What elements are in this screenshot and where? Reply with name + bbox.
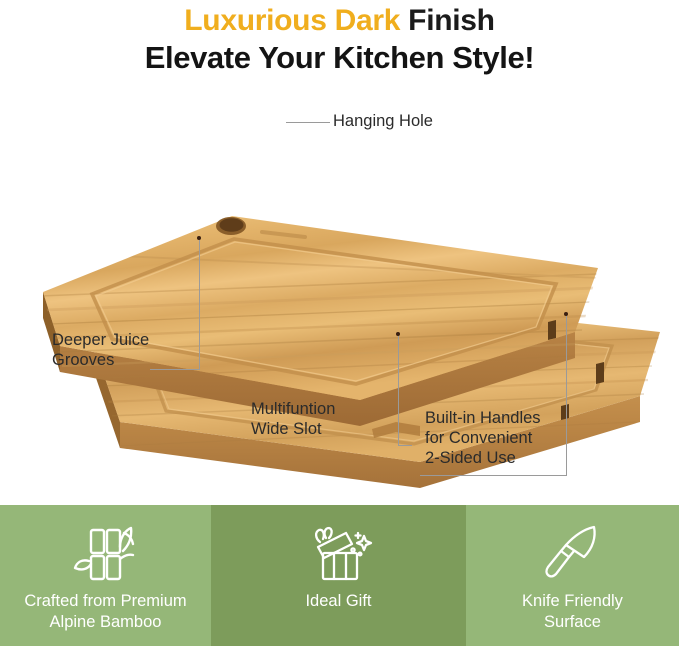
feature-panel-knife-friendly-surface[interactable]: Knife Friendly Surface	[466, 505, 679, 646]
leader-handles-vertical	[566, 316, 567, 476]
leader-wide-slot-vertical	[398, 336, 399, 446]
product-illustration	[0, 96, 679, 496]
handle-slot-upper	[596, 362, 604, 384]
leader-hanging-hole	[286, 122, 330, 123]
feature-panel-crafted-from-premium-alpine-bamboo[interactable]: Crafted from Premium Alpine Bamboo	[0, 505, 211, 646]
feature-bar: Crafted from Premium Alpine Bamboo	[0, 505, 679, 646]
gift-icon	[302, 519, 376, 589]
leader-juice-grooves-horizontal	[150, 369, 200, 370]
feature-label-ideal-gift: Ideal Gift	[299, 591, 377, 612]
callout-deeper-juice-grooves: Deeper Juice Grooves	[52, 330, 149, 370]
leader-handles-horizontal	[420, 475, 567, 476]
infographic-canvas: Luxurious Dark Finish Elevate Your Kitch…	[0, 0, 679, 646]
upper-board-hanging-hole-inner	[220, 218, 244, 232]
headline-line-1-rest: Finish	[400, 4, 495, 37]
knife-icon	[537, 519, 609, 589]
cutting-boards-svg	[0, 96, 679, 496]
headline-accent-text: Luxurious Dark	[184, 4, 400, 37]
callout-multifuntion-wide-slot: Multifuntion Wide Slot	[251, 399, 335, 439]
headline-line-2: Elevate Your Kitchen Style!	[0, 39, 679, 77]
bamboo-icon	[71, 519, 141, 589]
feature-label-knife-friendly-surface: Knife Friendly Surface	[516, 591, 629, 633]
feature-panel-ideal-gift[interactable]: Ideal Gift	[211, 505, 466, 646]
upper-handle-slot	[548, 320, 556, 340]
feature-label-crafted-from-premium-alpine-bamboo: Crafted from Premium Alpine Bamboo	[18, 591, 192, 633]
headline-line-1: Luxurious Dark Finish	[0, 3, 679, 39]
callout-built-in-handles: Built-in Handles for Convenient 2-Sided …	[425, 408, 541, 468]
callout-hanging-hole: Hanging Hole	[333, 111, 433, 131]
handle-slot-lower	[561, 404, 569, 420]
leader-wide-slot-horizontal	[398, 445, 412, 446]
leader-juice-grooves-vertical	[199, 240, 200, 370]
headline-block: Luxurious Dark Finish Elevate Your Kitch…	[0, 0, 679, 77]
